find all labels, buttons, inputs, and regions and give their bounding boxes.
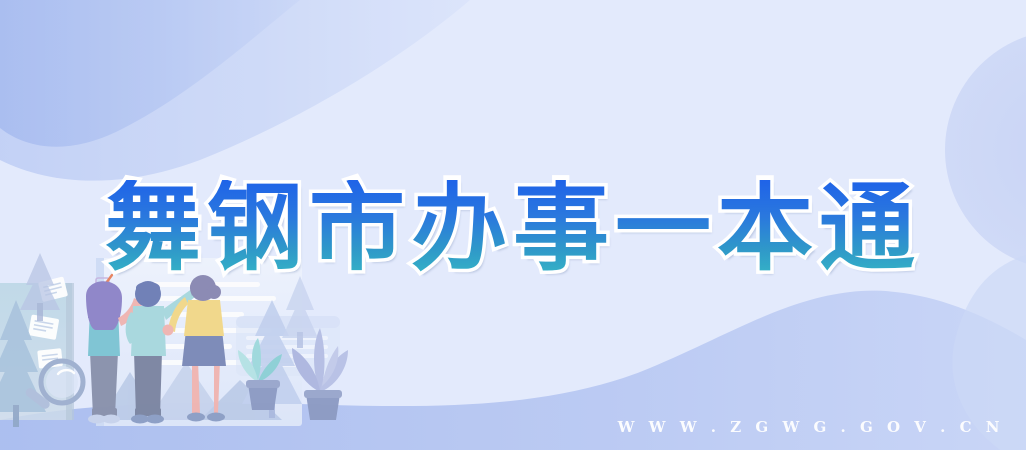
- site-url-watermark: W W W . Z G W G . G O V . C N: [618, 418, 1004, 436]
- site-banner: 舞钢市办事一本通 舞钢市办事一本通 W W W . Z G W G . G O …: [0, 0, 1026, 450]
- banner-background: [0, 0, 1026, 450]
